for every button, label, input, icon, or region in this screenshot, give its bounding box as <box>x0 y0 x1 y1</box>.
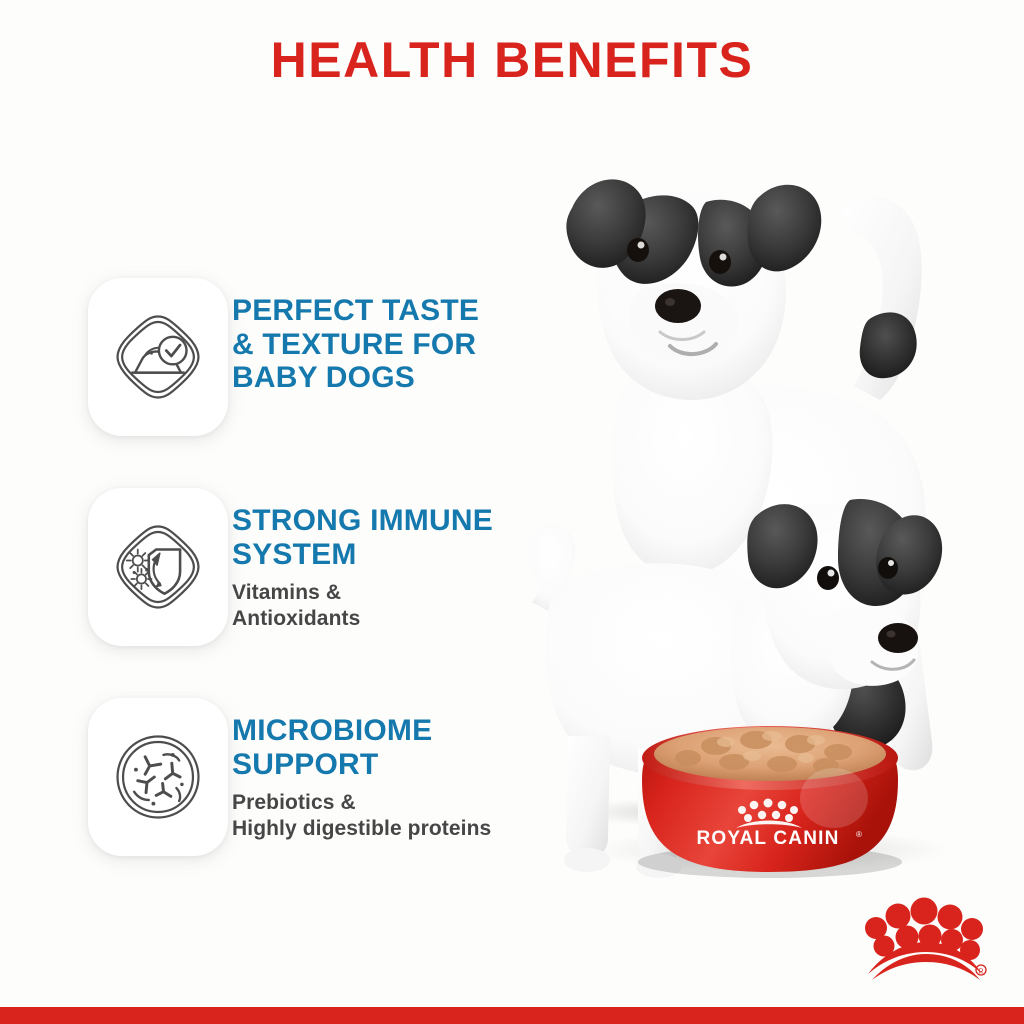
shield-germs-icon <box>88 488 228 646</box>
benefit-heading-3: MICROBIOME SUPPORT <box>232 714 491 781</box>
food-bowl-check-icon <box>88 278 228 436</box>
royal-canin-crown-logo: R <box>862 890 988 982</box>
benefit-item-strong-immune-system: STRONG IMMUNE SYSTEM Vitamins & Antioxid… <box>88 488 558 646</box>
benefit-text-1: PERFECT TASTE & TEXTURE FOR BABY DOGS <box>228 278 479 395</box>
bottom-accent-bar <box>0 1007 1024 1024</box>
svg-text:ROYAL CANIN: ROYAL CANIN <box>696 828 839 849</box>
benefit-item-perfect-taste: PERFECT TASTE & TEXTURE FOR BABY DOGS <box>88 278 558 436</box>
svg-text:®: ® <box>856 830 862 839</box>
page-title: HEALTH BENEFITS <box>0 34 1024 87</box>
microbiome-bacteria-icon <box>88 698 228 856</box>
benefit-subtext-3: Prebiotics & Highly digestible proteins <box>232 790 491 841</box>
registered-trademark-symbol: R <box>976 965 986 976</box>
svg-text:R: R <box>978 969 983 976</box>
benefit-heading-1: PERFECT TASTE & TEXTURE FOR BABY DOGS <box>232 294 479 395</box>
benefit-text-3: MICROBIOME SUPPORT Prebiotics & Highly d… <box>228 698 491 841</box>
infographic-page: HEALTH BENEFITS <box>0 0 1024 1024</box>
product-photo: ROYAL CANIN ® <box>520 150 1024 890</box>
benefit-subtext-2: Vitamins & Antioxidants <box>232 580 493 631</box>
royal-canin-bowl: ROYAL CANIN ® <box>638 726 902 878</box>
benefit-heading-2: STRONG IMMUNE SYSTEM <box>232 504 493 571</box>
benefit-item-microbiome-support: MICROBIOME SUPPORT Prebiotics & Highly d… <box>88 698 558 856</box>
benefit-text-2: STRONG IMMUNE SYSTEM Vitamins & Antioxid… <box>228 488 493 631</box>
